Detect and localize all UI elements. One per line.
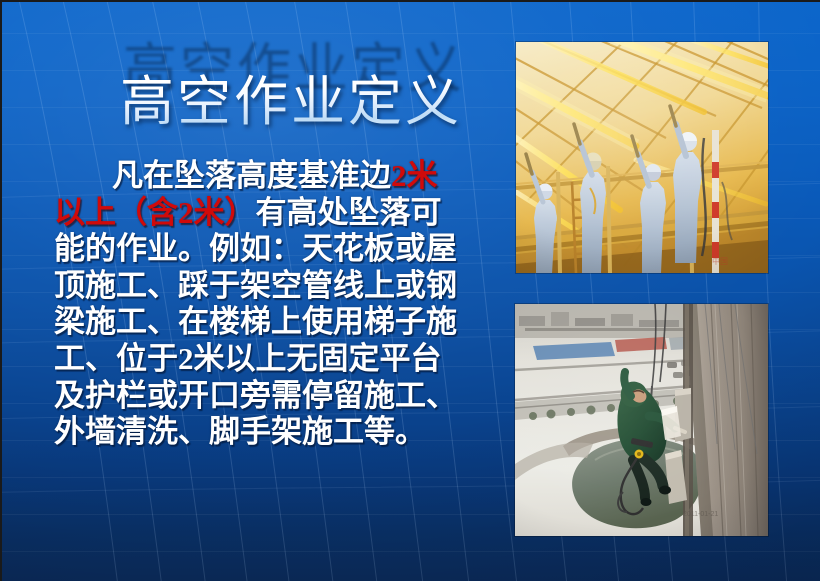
body-line: 梁施工、在楼梯上使用梯子施	[54, 304, 490, 341]
body-run-highlight: 2米	[391, 158, 438, 193]
photo-vignette	[516, 42, 768, 273]
slide-body-text: 凡在坠落高度基准边2米 以上（含2米）有高处坠落可 能的作业。例如：天花板或屋 …	[54, 158, 490, 451]
page-title: 高空作业定义	[120, 74, 462, 131]
body-line: 工、位于2米以上无固定平台	[54, 341, 490, 378]
workers-on-scaffolding-photo: 中国	[516, 42, 768, 273]
body-run: 凡在坠落高度基准边	[112, 158, 391, 193]
body-run: 能的作业。例如：天花板或屋	[54, 231, 457, 266]
body-line: 能的作业。例如：天花板或屋	[54, 231, 490, 268]
rope-access-worker-photo: 2011-01-21	[515, 304, 768, 536]
body-run-highlight: 以上（含2米）	[54, 195, 256, 230]
body-run: 梁施工、在楼梯上使用梯子施	[54, 304, 457, 339]
body-line: 凡在坠落高度基准边2米	[54, 158, 490, 195]
body-run: 顶施工、踩于架空管线上或钢	[54, 268, 457, 303]
body-line: 顶施工、踩于架空管线上或钢	[54, 268, 490, 305]
body-line: 及护栏或开口旁需停留施工、	[54, 378, 490, 415]
body-run: 外墙清洗、脚手架施工等。	[54, 414, 426, 449]
body-run: 有高处坠落可	[256, 195, 442, 230]
presentation-slide: 高空作业定义 高空作业定义 凡在坠落高度基准边2米 以上（含2米）有高处坠落可 …	[0, 0, 820, 581]
body-run: 工、位于2米以上无固定平台	[54, 341, 442, 376]
photo-vignette	[515, 304, 768, 536]
body-line: 以上（含2米）有高处坠落可	[54, 195, 490, 232]
body-line: 外墙清洗、脚手架施工等。	[54, 414, 490, 451]
body-run: 及护栏或开口旁需停留施工、	[54, 378, 457, 413]
